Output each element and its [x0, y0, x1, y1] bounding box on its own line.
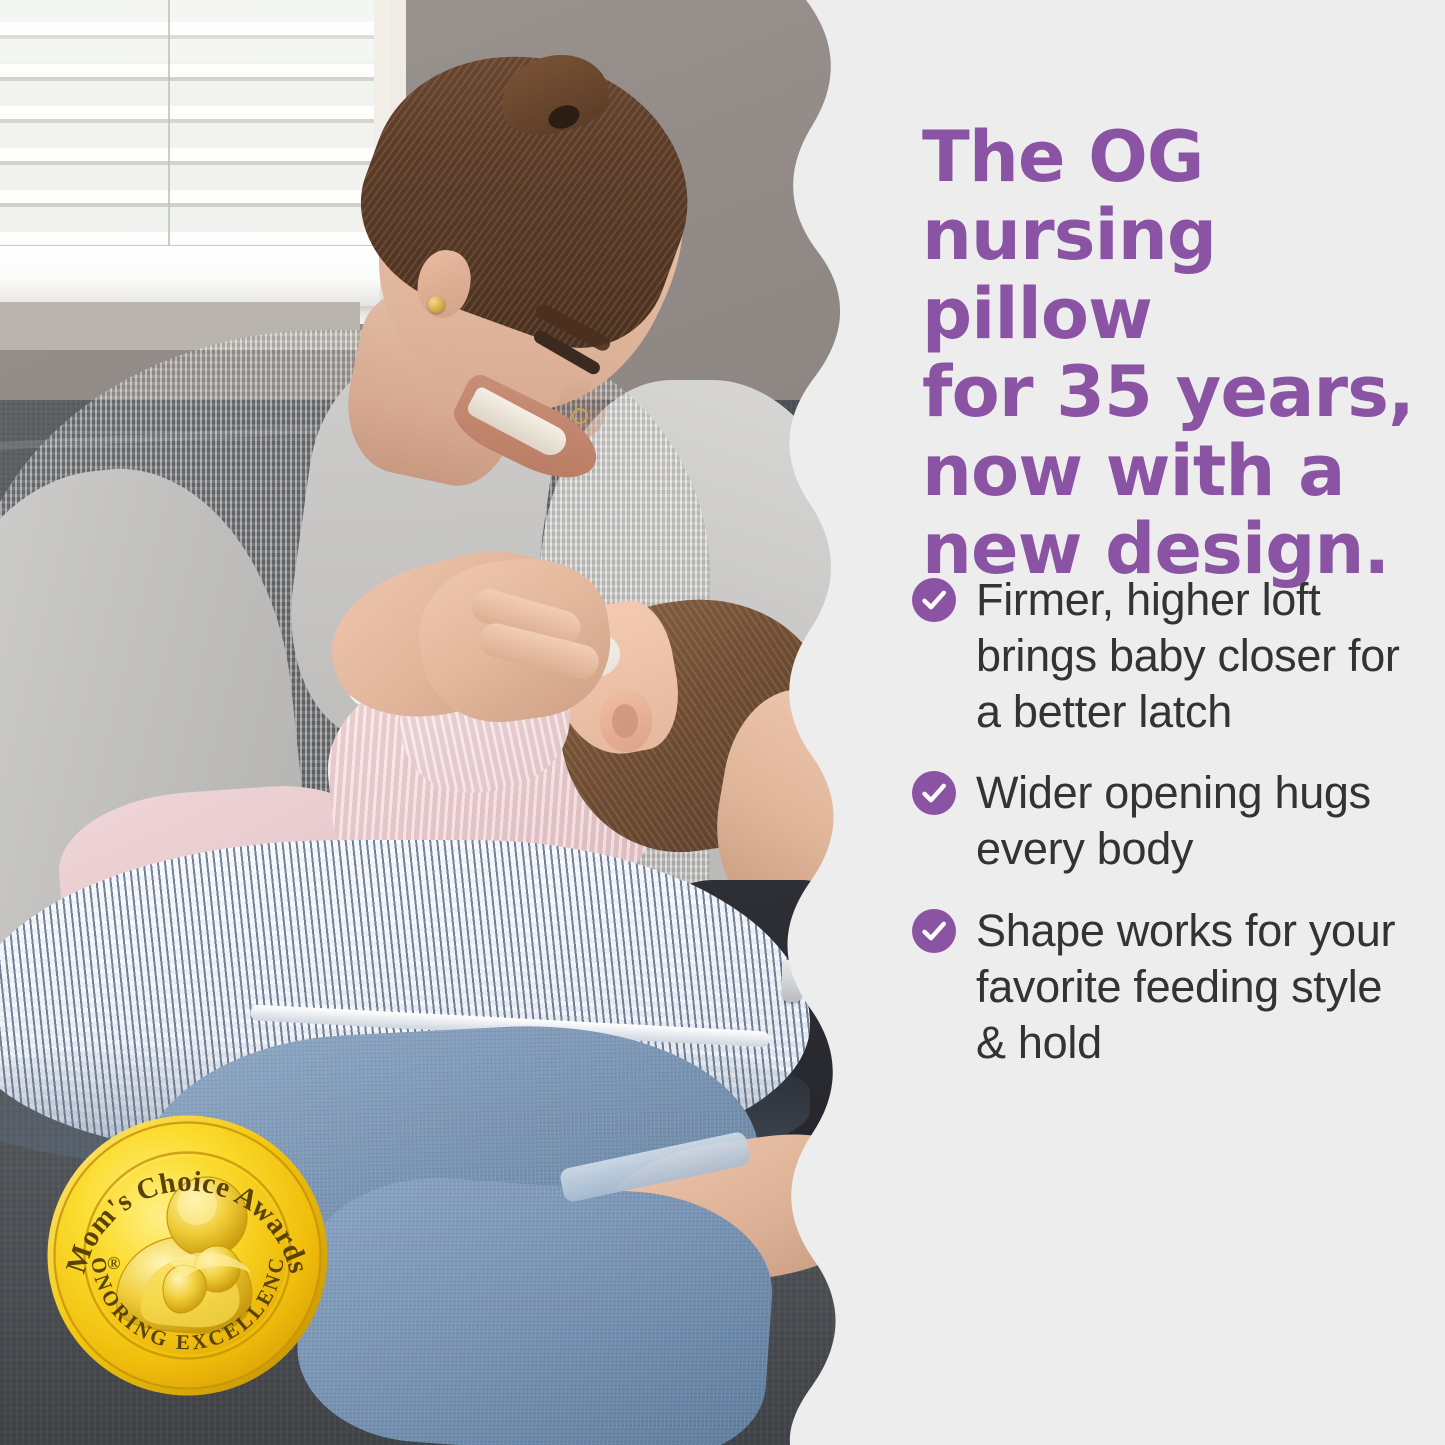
benefit-label: Firmer, higher loft brings baby closer f…: [976, 572, 1424, 739]
pillow-zipper-pull: [782, 960, 802, 1002]
list-item: Firmer, higher loft brings baby closer f…: [912, 572, 1424, 739]
content-panel: The OGnursing pillowfor 35 years,now wit…: [860, 0, 1445, 1445]
baby-ear-inner: [612, 704, 638, 738]
benefits-list: Firmer, higher loft brings baby closer f…: [912, 572, 1424, 1096]
page-title: The OGnursing pillowfor 35 years,now wit…: [922, 118, 1422, 588]
gold-stud-earring: [428, 296, 445, 313]
list-item: Wider opening hugs every body: [912, 765, 1424, 877]
check-circle-icon: [912, 771, 956, 815]
check-circle-icon: [912, 578, 956, 622]
benefit-label: Wider opening hugs every body: [976, 765, 1424, 877]
check-circle-icon: [912, 909, 956, 953]
jeans-lower-leg: [291, 1169, 778, 1445]
window-blinds: [0, 0, 374, 280]
benefit-label: Shape works for your favorite feeding st…: [976, 903, 1424, 1070]
list-item: Shape works for your favorite feeding st…: [912, 903, 1424, 1070]
product-feature-card: ® Mom's Choice Awards HONORING EXCELLENC…: [0, 0, 1445, 1445]
blind-cord: [168, 0, 170, 255]
window-sill: [0, 246, 380, 306]
moms-choice-awards-badge: ® Mom's Choice Awards HONORING EXCELLENC…: [45, 1113, 330, 1398]
